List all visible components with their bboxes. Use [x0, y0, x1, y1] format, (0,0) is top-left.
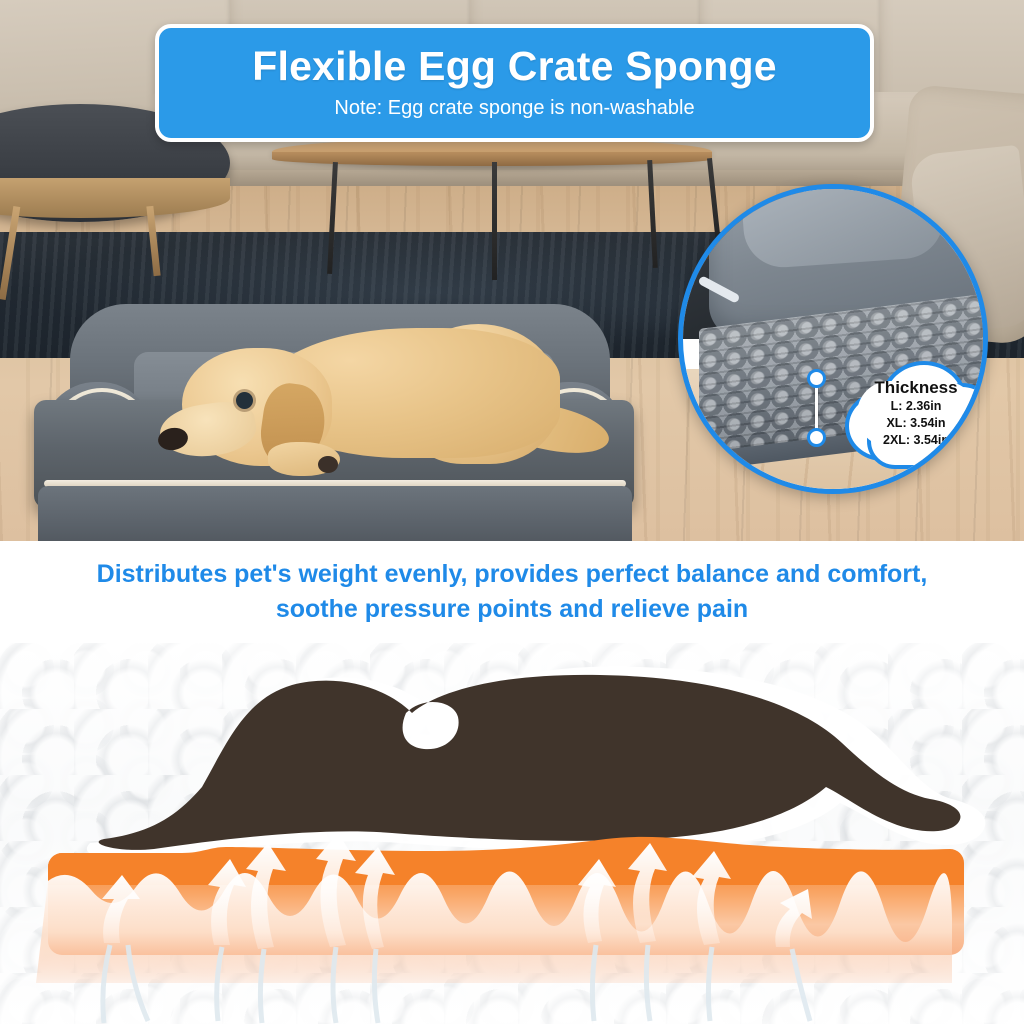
sofa-base-rail [140, 170, 980, 186]
dog-silhouette [99, 675, 961, 850]
airflow-tail [217, 947, 222, 1021]
airflow-tail [333, 947, 336, 1023]
tagline-line-1: Distributes pet's weight evenly, provide… [97, 557, 928, 593]
banner-note: Note: Egg crate sponge is non-washable [334, 97, 694, 120]
airflow-tail [374, 949, 378, 1023]
golden-retriever-photo [150, 318, 570, 508]
thickness-value-l: L: 2.36in [841, 398, 988, 415]
thickness-value-2xl: 2XL: 3.54in [841, 432, 988, 449]
tagline-line-2: soothe pressure points and relieve pain [276, 592, 748, 628]
airflow-tail [260, 949, 264, 1023]
foam-detail-inset: Thickness L: 2.36in XL: 3.54in 2XL: 3.54… [678, 184, 988, 494]
measure-endpoint-top-icon [807, 369, 826, 388]
product-infographic: Thickness L: 2.36in XL: 3.54in 2XL: 3.54… [0, 0, 1024, 1024]
thickness-callout-bubble: Thickness L: 2.36in XL: 3.54in 2XL: 3.54… [841, 357, 988, 465]
orange-foam-slab [36, 833, 964, 1023]
benefit-tagline: Distributes pet's weight evenly, provide… [0, 541, 1024, 643]
thickness-value-xl: XL: 3.54in [841, 415, 988, 432]
measure-endpoint-bottom-icon [807, 428, 826, 447]
banner-title: Flexible Egg Crate Sponge [252, 46, 776, 88]
thickness-callout-text: Thickness L: 2.36in XL: 3.54in 2XL: 3.54… [841, 379, 988, 449]
airflow-tail [708, 947, 712, 1021]
diagram-illustration [0, 643, 1024, 1024]
thickness-heading: Thickness [841, 379, 988, 398]
pressure-relief-diagram [0, 643, 1024, 1024]
headline-banner: Flexible Egg Crate Sponge Note: Egg crat… [155, 24, 874, 142]
bed-cover-fold [740, 184, 946, 270]
coffee-table-leg [492, 162, 497, 280]
lifestyle-photo: Thickness L: 2.36in XL: 3.54in 2XL: 3.54… [0, 0, 1024, 541]
dog-toe [318, 456, 338, 473]
dog-eye [236, 392, 253, 409]
thickness-measure-line [815, 377, 818, 439]
